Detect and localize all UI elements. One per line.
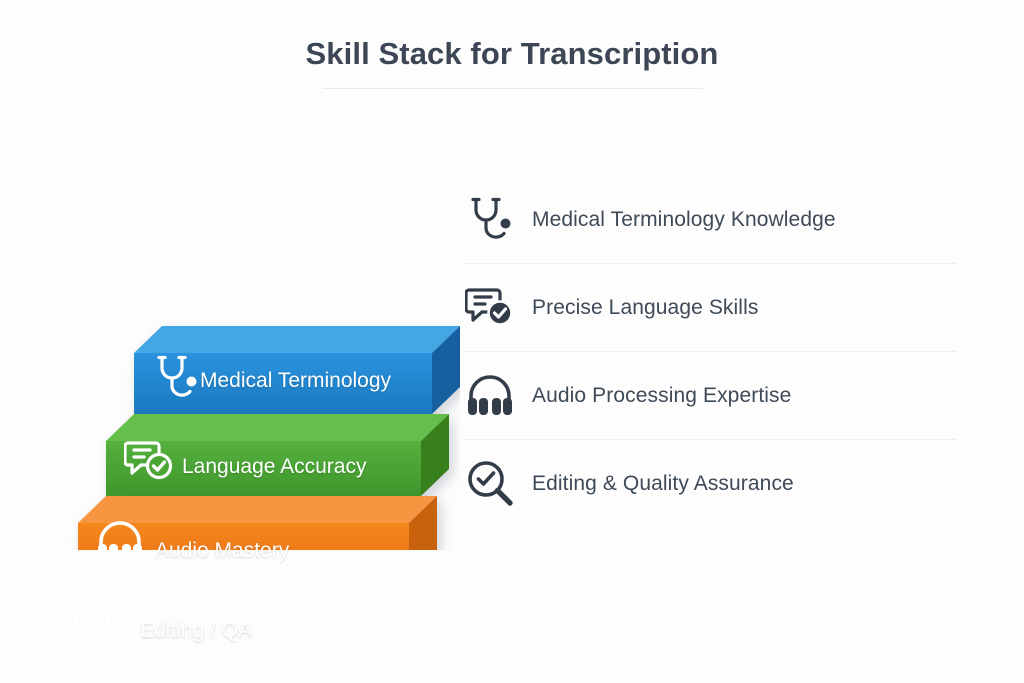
title-divider	[322, 88, 703, 89]
layer-front-face	[134, 353, 432, 414]
stack-layer-medical-terminology	[134, 326, 460, 414]
stethoscope-icon	[462, 192, 518, 248]
page-title: Skill Stack for Transcription	[0, 34, 1024, 74]
legend-label: Editing & Quality Assurance	[532, 472, 794, 496]
headphones-icon	[462, 368, 518, 424]
skill-stack-pyramid: Medical Terminology Language Accuracy Au…	[0, 150, 460, 550]
stack-3d-shapes	[0, 150, 460, 550]
list-item[interactable]: Editing & Quality Assurance	[462, 440, 962, 528]
list-item[interactable]: Precise Language Skills	[462, 264, 962, 352]
magnifier-check-icon	[462, 456, 518, 512]
magnifier-document-icon	[70, 598, 122, 655]
legend-label: Medical Terminology Knowledge	[532, 208, 836, 232]
layer-top-face	[106, 414, 449, 441]
title-block: Skill Stack for Transcription	[0, 34, 1024, 89]
layer-front-face	[106, 441, 421, 496]
skills-legend-list: Medical Terminology Knowledge Precise La…	[462, 176, 962, 528]
layer-top-face	[78, 496, 437, 523]
layer-top-face	[134, 326, 460, 353]
legend-label: Precise Language Skills	[532, 296, 758, 320]
list-item[interactable]: Audio Processing Expertise	[462, 352, 962, 440]
speech-bubble-check-icon	[462, 280, 518, 336]
stack-layer-audio-mastery	[78, 496, 437, 550]
layer-front-face	[78, 523, 409, 550]
stack-label-editing-qa: Editing / QA	[140, 619, 252, 643]
infographic-canvas: Skill Stack for Transcription	[0, 0, 1024, 683]
list-item[interactable]: Medical Terminology Knowledge	[462, 176, 962, 264]
legend-label: Audio Processing Expertise	[532, 384, 791, 408]
stack-layer-language-accuracy	[106, 414, 449, 496]
